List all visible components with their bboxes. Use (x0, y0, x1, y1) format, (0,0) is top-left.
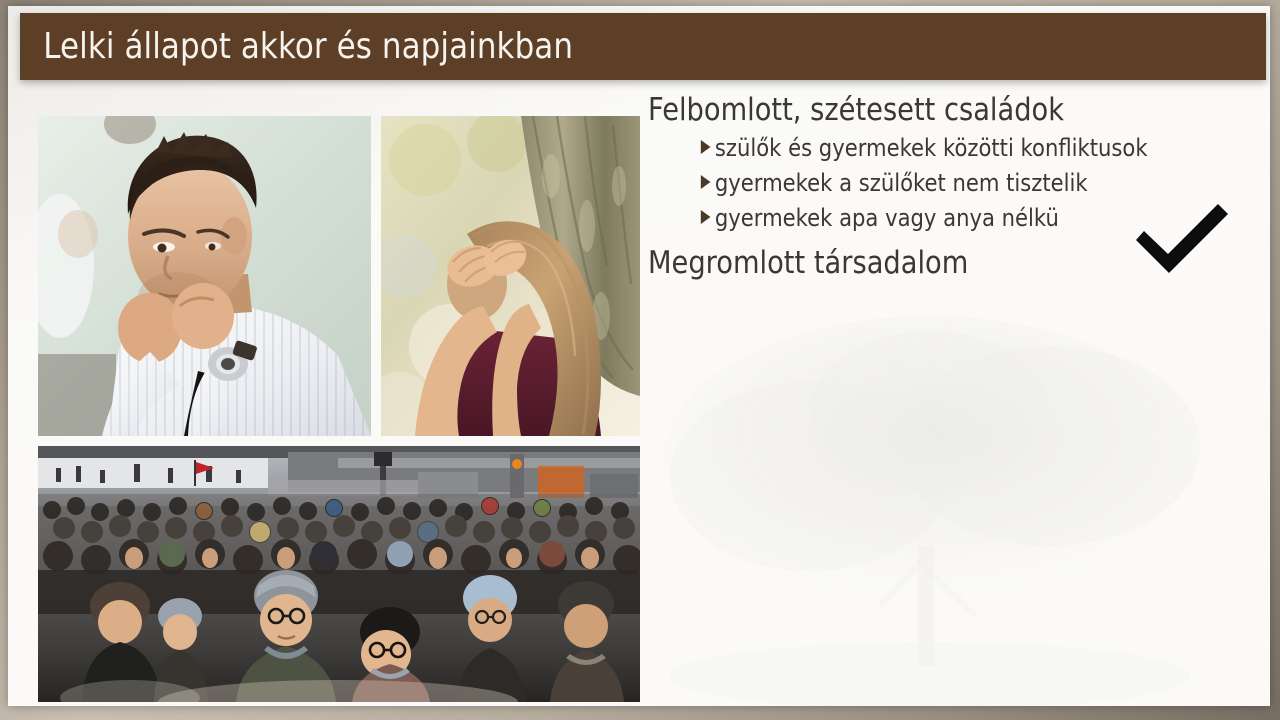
tree-watermark (630, 306, 1250, 706)
bullet-label: gyermekek a szülőket nem tisztelik (715, 166, 1088, 201)
bullet-item-tisztelik: gyermekek a szülőket nem tisztelik (648, 166, 1176, 201)
distressed-woman-photo (381, 116, 640, 436)
bullet-label: szülők és gyermekek közötti konfliktusok (715, 131, 1148, 166)
pensive-man-photo (38, 116, 371, 436)
bullet-label: gyermekek apa vagy anya nélkü (715, 201, 1059, 236)
bullet-item-nelkue: gyermekek apa vagy anya nélkü (648, 201, 1176, 236)
bullet-item-konfliktusok: szülők és gyermekek közötti konfliktusok (648, 131, 1176, 166)
slide-title-bar: Lelki állapot akkor és napjainkban (20, 13, 1266, 80)
slide-canvas: Lelki állapot akkor és napjainkban (8, 6, 1270, 706)
page-title: Lelki állapot akkor és napjainkban (20, 26, 573, 67)
check-mark-icon (1132, 202, 1232, 274)
heading-megromlott: Megromlott társadalom (648, 243, 1176, 284)
heading-felbomlott: Felbomlott, szétesett családok (648, 90, 1176, 131)
triangle-bullet-icon (701, 140, 711, 154)
triangle-bullet-icon (701, 175, 711, 189)
triangle-bullet-icon (701, 210, 711, 224)
slide-frame: Lelki állapot akkor és napjainkban (0, 0, 1280, 720)
winter-crowd-photo (38, 446, 640, 702)
